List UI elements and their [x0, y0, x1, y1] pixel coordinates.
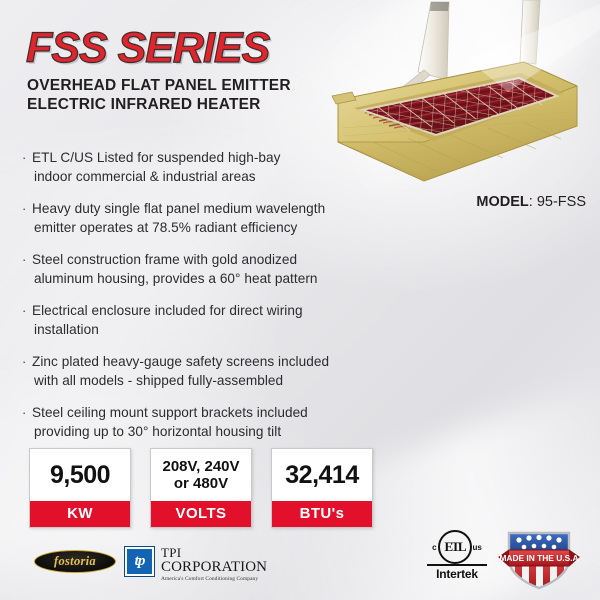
feature-item: · Steel ceiling mount support brackets i…: [22, 404, 394, 441]
tpi-corporation-logo: tp TPI CORPORATION America's Comfort Con…: [124, 546, 267, 583]
fostoria-logo-text: fostoria: [54, 554, 96, 569]
model-label: MODEL: [476, 194, 528, 210]
feature-text: Electrical enclosure included for direct…: [32, 302, 303, 339]
etl-mark-row: c ETL us: [423, 531, 491, 563]
page-title: FSS SERIES: [26, 27, 269, 70]
feature-item: · ETL C/US Listed for suspended high-bay…: [22, 149, 394, 186]
spec-box-volts: 208V, 240V or 480V VOLTS: [150, 448, 252, 528]
spec-label: VOLTS: [151, 501, 251, 527]
subtitle-line-2: ELECTRIC INFRARED HEATER: [27, 95, 327, 114]
spec-box-kw: 9,500 KW: [29, 448, 131, 528]
feature-line: indoor commercial & industrial areas: [32, 168, 281, 187]
product-spec-sheet: FSS SERIES OVERHEAD FLAT PANEL EMITTER E…: [0, 0, 600, 600]
feature-line: providing up to 30° horizontal housing t…: [32, 423, 308, 442]
feature-item: · Electrical enclosure included for dire…: [22, 302, 394, 339]
made-in-usa-text: MADE IN THE U.S.A: [499, 553, 578, 563]
bullet-icon: ·: [22, 404, 32, 441]
feature-line: Steel ceiling mount support brackets inc…: [32, 404, 308, 423]
spec-value: 9,500: [30, 449, 130, 501]
feature-line: Electrical enclosure included for direct…: [32, 302, 303, 321]
page-subtitle: OVERHEAD FLAT PANEL EMITTER ELECTRIC INF…: [27, 76, 327, 114]
made-in-usa-badge: MADE IN THE U.S.A: [497, 529, 581, 591]
fostoria-logo-oval: fostoria: [34, 550, 116, 573]
intertek-label: Intertek: [423, 567, 491, 581]
etl-monogram-text: ETL: [445, 539, 465, 555]
etl-divider: [427, 564, 487, 566]
spec-box-btu: 32,414 BTU's: [271, 448, 373, 528]
tpi-logo-tagline: America's Comfort Conditioning Company: [161, 575, 267, 583]
feature-line: Zinc plated heavy-gauge safety screens i…: [32, 353, 329, 372]
feature-text: Zinc plated heavy-gauge safety screens i…: [32, 353, 329, 390]
tpi-logo-names: TPI CORPORATION America's Comfort Condit…: [161, 546, 267, 583]
bullet-icon: ·: [22, 200, 32, 237]
fostoria-logo: fostoria: [34, 550, 116, 573]
spec-value-line: or 480V: [162, 475, 239, 492]
feature-item: · Zinc plated heavy-gauge safety screens…: [22, 353, 394, 390]
model-number: MODEL: 95-FSS: [476, 194, 586, 210]
feature-item: · Steel construction frame with gold ano…: [22, 251, 394, 288]
spec-label: KW: [30, 501, 130, 527]
spec-label: BTU's: [272, 501, 372, 527]
feature-list: · ETL C/US Listed for suspended high-bay…: [22, 149, 394, 455]
etl-canada-mark: c: [432, 543, 436, 552]
feature-text: Steel ceiling mount support brackets inc…: [32, 404, 308, 441]
feature-text: Steel construction frame with gold anodi…: [32, 251, 318, 288]
bullet-icon: ·: [22, 302, 32, 339]
etl-us-mark: us: [473, 543, 482, 552]
feature-line: Steel construction frame with gold anodi…: [32, 251, 318, 270]
feature-item: · Heavy duty single flat panel medium wa…: [22, 200, 394, 237]
feature-text: ETL C/US Listed for suspended high-bay i…: [32, 149, 281, 186]
tpi-logo-mark: tp: [124, 546, 155, 577]
subtitle-line-1: OVERHEAD FLAT PANEL EMITTER: [27, 76, 327, 95]
bullet-icon: ·: [22, 251, 32, 288]
etl-monogram-icon: ETL: [438, 530, 472, 564]
bullet-icon: ·: [22, 149, 32, 186]
bullet-icon: ·: [22, 353, 32, 390]
feature-line: emitter operates at 78.5% radiant effici…: [32, 219, 325, 238]
tpi-logo-line-1: TPI: [161, 546, 267, 559]
usa-banner: MADE IN THE U.S.A: [499, 550, 579, 566]
spec-value: 208V, 240V or 480V: [151, 449, 251, 501]
feature-text: Heavy duty single flat panel medium wave…: [32, 200, 325, 237]
model-value: 95-FSS: [537, 194, 586, 210]
tpi-logo-line-2: CORPORATION: [161, 559, 267, 575]
tpi-logo-mark-text: tp: [135, 553, 145, 570]
feature-line: with all models - shipped fully-assemble…: [32, 372, 329, 391]
spec-value: 32,414: [272, 449, 372, 501]
spec-value-line: 208V, 240V: [162, 458, 239, 475]
etl-listed-mark: c ETL us Intertek: [423, 531, 491, 581]
feature-line: installation: [32, 321, 303, 340]
feature-line: aluminum housing, provides a 60° heat pa…: [32, 270, 318, 289]
feature-line: ETL C/US Listed for suspended high-bay: [32, 149, 281, 168]
model-separator: :: [529, 194, 537, 210]
feature-line: Heavy duty single flat panel medium wave…: [32, 200, 325, 219]
spec-box-group: 9,500 KW 208V, 240V or 480V VOLTS 32,414…: [29, 448, 373, 528]
